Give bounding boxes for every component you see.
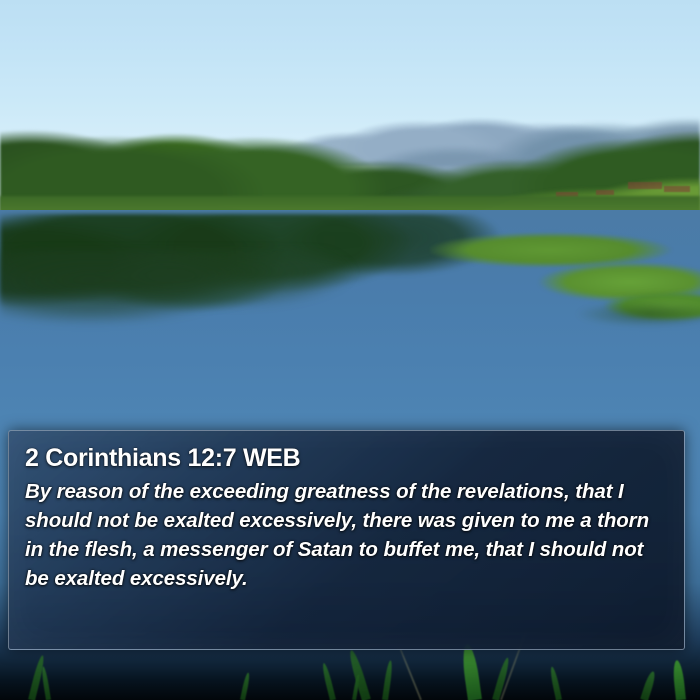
verse-body-text: By reason of the exceeding greatness of …: [25, 477, 668, 593]
hillside-building-roof: [596, 190, 614, 195]
verse-image-card: 2 Corinthians 12:7 WEB By reason of the …: [0, 0, 700, 700]
hillside-building-roof: [628, 182, 662, 189]
grass-peninsula-reflection: [560, 300, 700, 346]
verse-reference-title: 2 Corinthians 12:7 WEB: [25, 443, 668, 473]
hillside-building-roof: [664, 186, 690, 192]
verse-overlay-panel: 2 Corinthians 12:7 WEB By reason of the …: [8, 430, 685, 650]
